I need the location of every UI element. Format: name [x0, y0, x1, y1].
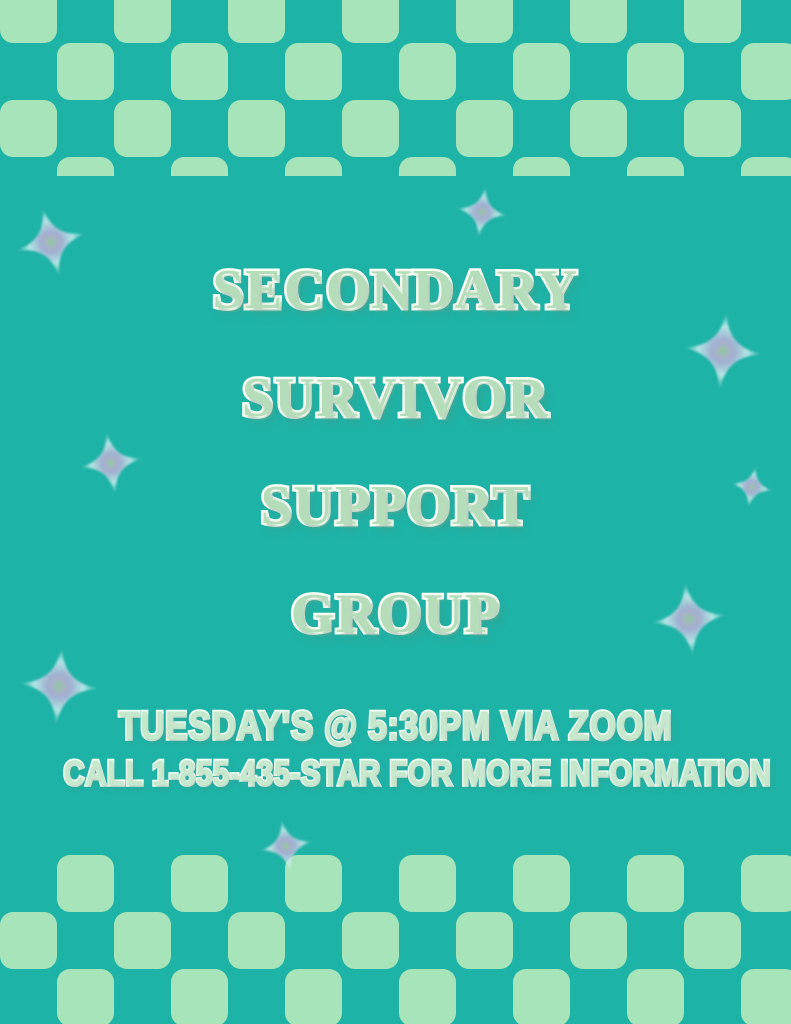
headline-line-3: Support	[0, 444, 791, 552]
headline-line-1: Secondary	[0, 228, 791, 336]
details-block: Tuesday's @ 5:30PM via Zoom Call 1-855-4…	[0, 702, 791, 796]
flyer-content: Secondary Survivor Support Group Tuesday…	[0, 0, 791, 1024]
headline-line-4: Group	[0, 552, 791, 660]
headline-line-2: Survivor	[0, 336, 791, 444]
contact-phone-text: Call 1-855-435-STAR for more information	[63, 752, 727, 796]
flyer-canvas: Secondary Survivor Support Group Tuesday…	[0, 0, 791, 1024]
meeting-time-text: Tuesday's @ 5:30PM via Zoom	[63, 702, 727, 750]
headline-block: Secondary Survivor Support Group	[0, 228, 791, 660]
